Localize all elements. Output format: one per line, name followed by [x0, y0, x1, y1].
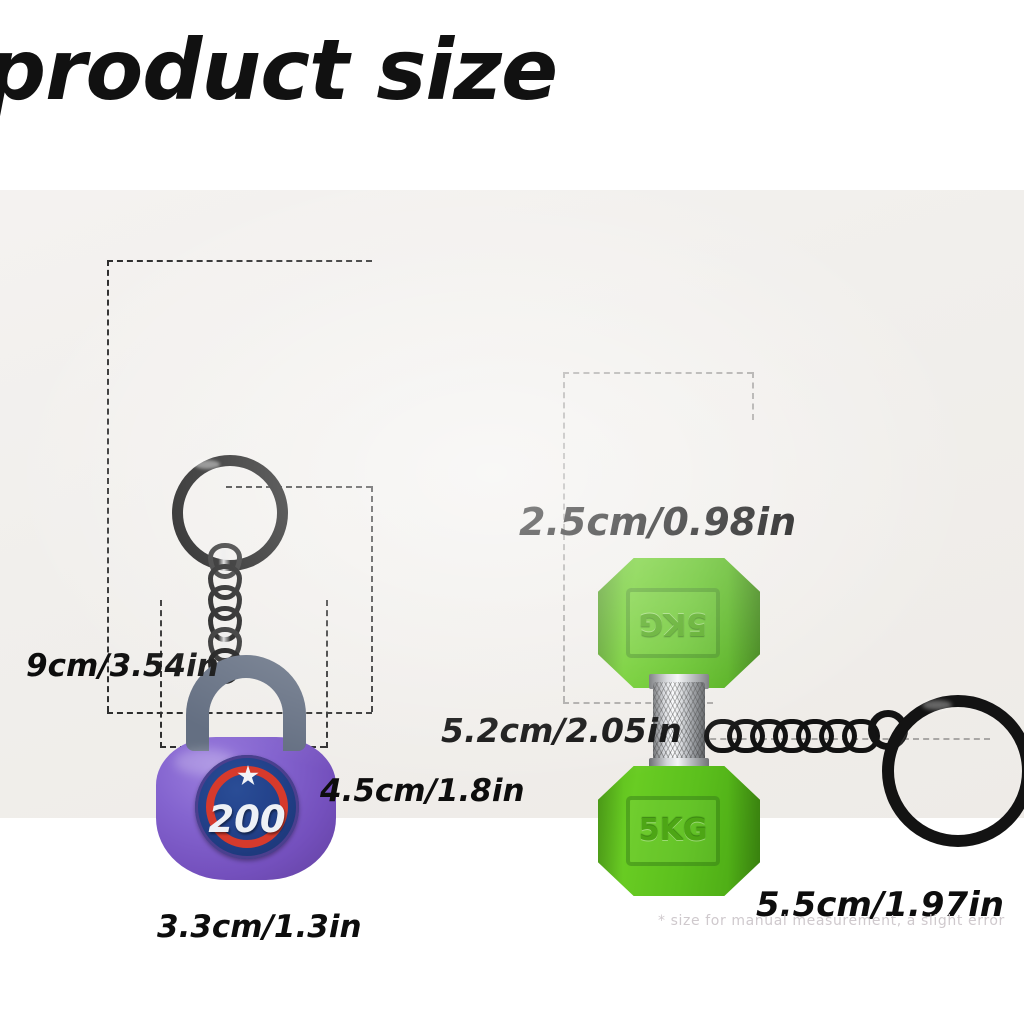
keyring-split-ring-right [882, 695, 1024, 847]
dumbbell-weight-label-bottom: 5KG [630, 816, 716, 846]
dumbbell-weight-label-top: 5KG [630, 608, 716, 638]
guide-kettlebell-top [107, 260, 372, 262]
product-photo-panel: 200 5KG 5KG 9cm/3.54in [0, 190, 1024, 818]
keychain-chain-right [704, 716, 874, 746]
kettlebell-body: 200 [156, 655, 336, 880]
dimension-label-kettlebell-height: 9cm/3.54in [26, 651, 219, 682]
emblem-weight-number: 200 [195, 801, 299, 838]
dimension-label-kettlebell-base-width: 3.3cm/1.3in [157, 912, 362, 943]
guide-dumbbell-top [563, 372, 753, 374]
keyring-sheen-left [194, 460, 220, 469]
kettlebell-emblem: 200 [195, 755, 299, 859]
dimension-label-dumbbell-depth: 2.5cm/0.98in [519, 503, 796, 541]
page-title: product size [0, 28, 557, 112]
guide-kettlebell-right [371, 486, 373, 712]
guide-kettlebell-left [107, 260, 109, 712]
measurement-disclaimer: * size for manual measurement, a slight … [658, 913, 1005, 929]
dumbbell-face-bottom: 5KG [626, 796, 720, 866]
dimension-label-kettlebell-width: 4.5cm/1.8in [320, 776, 525, 807]
dimension-label-dumbbell-height: 5.2cm/2.05in [441, 714, 682, 747]
keyring-sheen-right [922, 700, 952, 710]
dumbbell-face-top: 5KG [626, 588, 720, 658]
guide-dumbbell-right [752, 372, 754, 420]
